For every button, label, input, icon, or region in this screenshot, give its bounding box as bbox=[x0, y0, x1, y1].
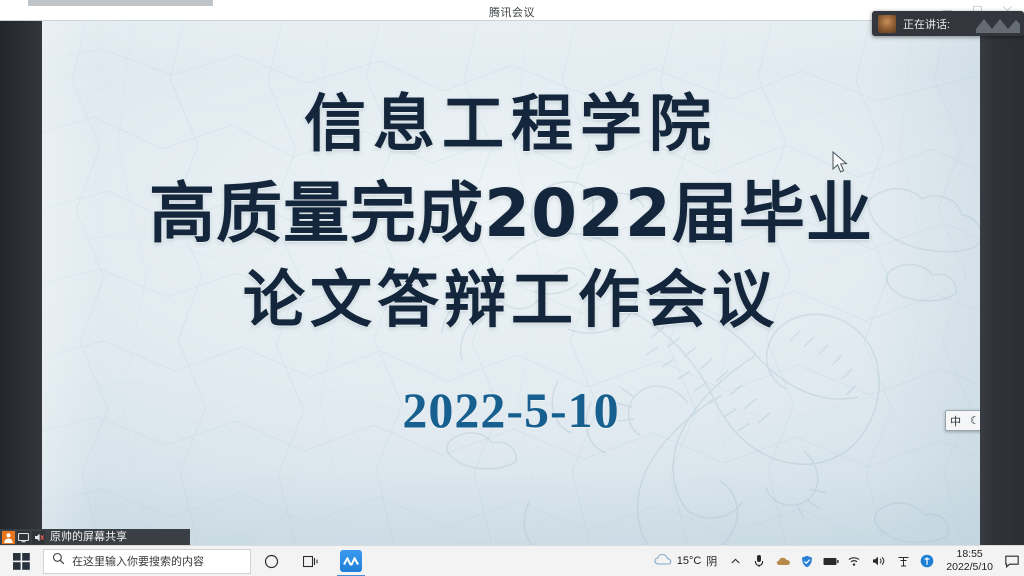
search-input[interactable]: 在这里输入你要搜索的内容 bbox=[43, 549, 251, 574]
dragon-watermark-icon bbox=[438, 141, 980, 545]
tray-weather[interactable]: 15°C 阴 bbox=[652, 553, 724, 569]
windows-taskbar: 在这里输入你要搜索的内容 bbox=[0, 545, 1024, 576]
ime-floating-bar[interactable]: 中 ☾ °, ✿ bbox=[945, 410, 980, 431]
speaker-icon[interactable] bbox=[867, 546, 891, 576]
ime-language-mode[interactable]: 中 bbox=[946, 411, 965, 430]
clock-date: 2022/5/10 bbox=[946, 561, 993, 574]
mute-speaker-icon bbox=[32, 531, 45, 544]
shield-icon[interactable] bbox=[795, 546, 819, 576]
participant-avatar bbox=[878, 15, 896, 33]
chevron-up-icon[interactable] bbox=[723, 546, 747, 576]
wifi-icon[interactable] bbox=[843, 546, 867, 576]
slide-headline-1: 信息工程学院 bbox=[304, 93, 718, 155]
slide-headline-2: 高质量完成2022届毕业 bbox=[149, 181, 873, 247]
projection-sheen bbox=[42, 21, 980, 545]
taskbar-button-cortana[interactable] bbox=[251, 546, 291, 576]
screen-share-indicator: 原帅的屏幕共享 bbox=[0, 529, 190, 545]
active-speaker-panel[interactable]: 正在讲话: bbox=[872, 11, 1024, 36]
screen: 腾讯会议 bbox=[0, 0, 1024, 576]
meeting-stage: 信息工程学院 高质量完成2022届毕业 论文答辩工作会议 2022-5-10 中… bbox=[0, 21, 1024, 545]
screen-share-label: 原帅的屏幕共享 bbox=[50, 532, 127, 543]
notification-icon[interactable] bbox=[1000, 546, 1024, 576]
windows-logo-icon[interactable] bbox=[0, 546, 42, 576]
taskbar-button-tencent-meeting[interactable] bbox=[331, 546, 371, 576]
monitor-icon bbox=[17, 531, 30, 544]
slide-text-block: 信息工程学院 高质量完成2022届毕业 论文答辩工作会议 2022-5-10 bbox=[42, 21, 980, 545]
battery-icon[interactable] bbox=[819, 546, 843, 576]
tencent-meeting-icon bbox=[340, 550, 362, 572]
search-placeholder: 在这里输入你要搜索的内容 bbox=[72, 553, 204, 569]
taskbar-button-task-view[interactable] bbox=[291, 546, 331, 576]
crackle-texture bbox=[42, 21, 980, 545]
search-icon bbox=[52, 552, 65, 570]
slide-date: 2022-5-10 bbox=[402, 381, 619, 439]
slide-headline-3: 论文答辩工作会议 bbox=[243, 269, 779, 331]
clock-time: 18:55 bbox=[957, 548, 983, 561]
audio-wave-icon bbox=[976, 15, 1020, 33]
tray-condition: 阴 bbox=[706, 553, 717, 569]
mouse-cursor-arrow-pointer bbox=[831, 151, 849, 175]
blue-circle-icon[interactable] bbox=[915, 546, 939, 576]
ime-moon-icon[interactable]: ☾ bbox=[965, 411, 980, 430]
system-tray: 15°C 阴 bbox=[652, 546, 1024, 576]
window-titlebar[interactable]: 腾讯会议 bbox=[0, 0, 1024, 21]
window-title: 腾讯会议 bbox=[0, 4, 1024, 20]
onedrive-icon[interactable] bbox=[771, 546, 795, 576]
speaking-now-label: 正在讲话: bbox=[903, 16, 950, 32]
person-icon bbox=[2, 531, 15, 544]
cloud-icon bbox=[654, 553, 672, 569]
tray-clock[interactable]: 18:55 2022/5/10 bbox=[939, 548, 1000, 574]
ime-icon[interactable] bbox=[891, 546, 915, 576]
microphone-icon[interactable] bbox=[747, 546, 771, 576]
shared-screen-slide[interactable]: 信息工程学院 高质量完成2022届毕业 论文答辩工作会议 2022-5-10 中… bbox=[42, 21, 980, 545]
tray-temperature: 15°C bbox=[677, 555, 702, 567]
